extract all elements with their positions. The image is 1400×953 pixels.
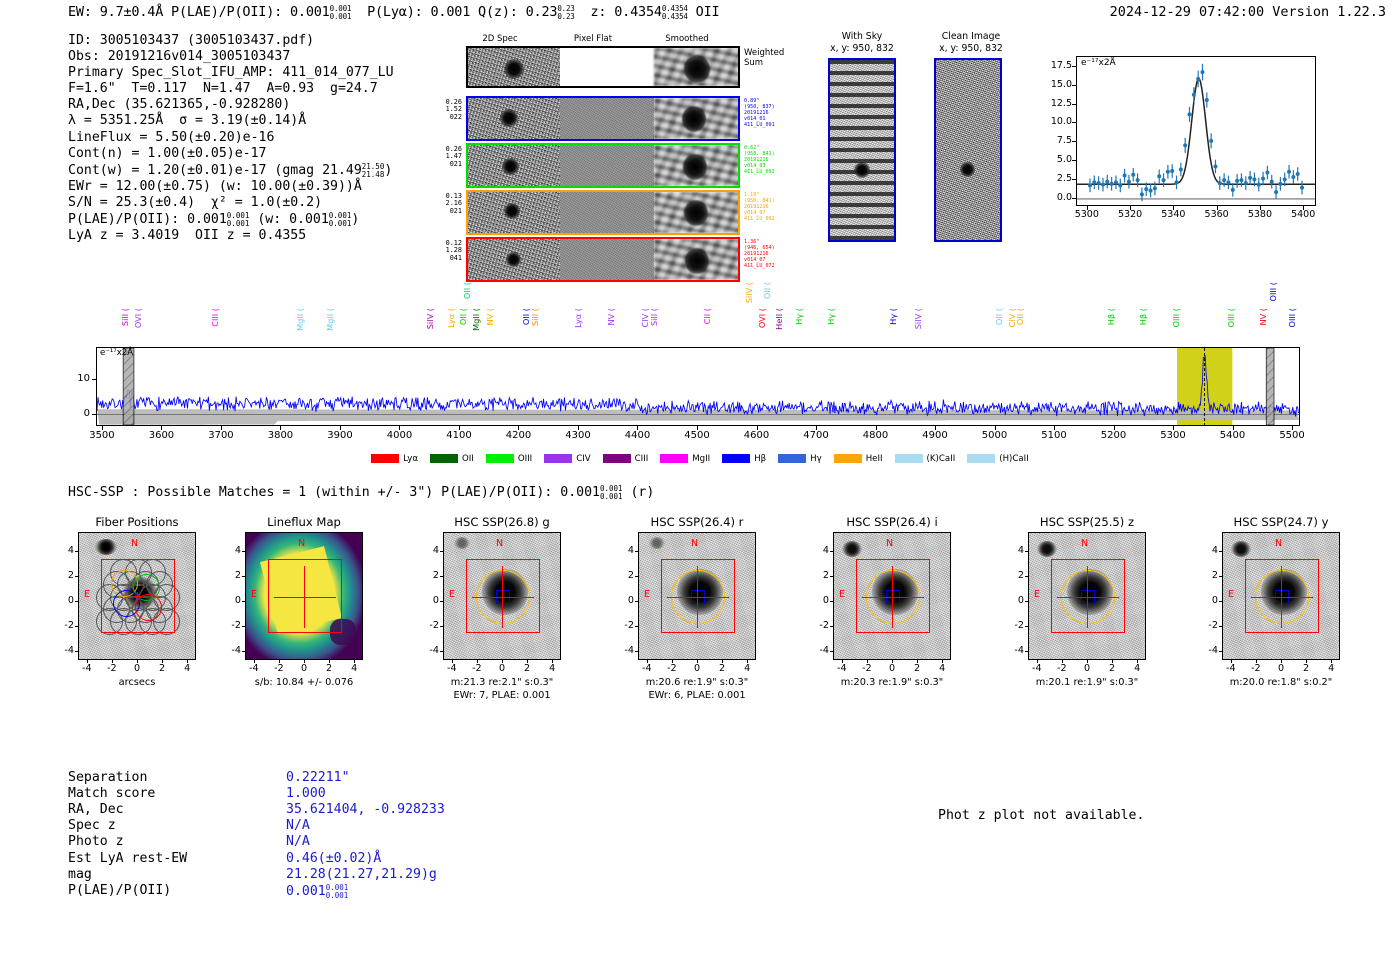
- spectrum-line-label: OIII (: [1171, 308, 1181, 328]
- spec2d-panel: 2D Spec Pixel Flat Smoothed Weighted Sum…: [438, 34, 788, 249]
- panel-xtick: 4: [171, 663, 203, 674]
- tick-mark: [637, 426, 638, 430]
- tick-mark: [892, 660, 893, 663]
- panel-ytick: 0: [1196, 595, 1218, 606]
- crosshair-vertical: [502, 566, 503, 628]
- panel-ytick: 2: [52, 570, 74, 581]
- tick-mark: [1072, 198, 1076, 199]
- line-profile-ytick: 7.5: [1034, 135, 1072, 146]
- line-profile-ytick: 10.0: [1034, 116, 1072, 127]
- tick-mark: [75, 601, 78, 602]
- tick-mark: [830, 576, 833, 577]
- tick-mark: [1219, 651, 1222, 652]
- spectrum-line-label: Hγ (: [826, 308, 836, 325]
- tick-mark: [1217, 206, 1218, 210]
- panel-ytick: 2: [807, 570, 829, 581]
- spectrum-xtick: 5000: [969, 430, 1021, 441]
- spec2d-col-title-smoothed: Smoothed: [642, 34, 732, 44]
- crosshair-vertical: [1281, 566, 1282, 628]
- legend-label: CIV: [576, 454, 590, 464]
- detail-value: 35.621404, -0.928233: [286, 802, 445, 818]
- tick-mark: [816, 426, 817, 430]
- legend-item: OIII: [486, 454, 532, 464]
- spectrum-line-label: OIII (: [1287, 308, 1297, 328]
- spectrum-line-label: HeII (: [774, 308, 784, 330]
- spectrum-line-label: SiIV (: [744, 282, 754, 303]
- spectrum-line-label: Lyα (: [573, 308, 583, 328]
- panel-image-hsc-cutout[interactable]: NE: [833, 532, 951, 660]
- panel-ytick: 0: [1002, 595, 1024, 606]
- spec2d-row-left-labels: 0.132.16021: [426, 193, 462, 215]
- spec2d-row-left-labels: 0.261.47021: [426, 146, 462, 168]
- tick-mark: [221, 426, 222, 430]
- line-profile-xtick: 5380: [1238, 209, 1282, 220]
- panel-image-fiber-positions[interactable]: NE: [78, 532, 196, 660]
- legend-label: MgII: [692, 454, 710, 464]
- legend-item: Lyα: [371, 454, 418, 464]
- hsc-plae-bounds: 0.0010.001: [600, 485, 623, 501]
- spec2d-row-right-labels: 1.36"(946, 654)20191216v014_07411_LU_072: [744, 239, 792, 269]
- panel-ytick: 4: [1002, 545, 1024, 556]
- panel-ytick: 0: [219, 595, 241, 606]
- legend-label: HeII: [866, 454, 883, 464]
- tick-mark: [102, 426, 103, 430]
- tick-mark: [635, 651, 638, 652]
- tick-mark: [1219, 576, 1222, 577]
- tick-mark: [1072, 122, 1076, 123]
- east-marker: E: [1228, 589, 1234, 600]
- panel-ytick: -4: [52, 645, 74, 656]
- detail-key: Spec z: [68, 818, 116, 834]
- spec2d-row-right-labels: 0.89"(950, 837)20191216v014_01411_LU_091: [744, 98, 792, 128]
- info-cont-n: Cont(n) = 1.00(±0.05)e-17: [68, 146, 394, 162]
- tick-mark: [876, 426, 877, 430]
- spec2d-weighted-sum-label: Weighted Sum: [744, 48, 794, 68]
- spectrum-line-label: OII (: [1015, 308, 1025, 325]
- spectrum-xtick: 4500: [671, 430, 723, 441]
- header-summary-prefix: EW: 9.7±0.4Å P(LAE)/P(OII): 0.001: [68, 4, 330, 20]
- panel-ytick: -4: [807, 645, 829, 656]
- legend-label: Hγ: [810, 454, 822, 464]
- panel-caption-secondary: EWr: 6, PLAE: 0.001: [598, 690, 796, 702]
- clean-image: [934, 58, 1002, 242]
- spectrum-line-label: OII (: [462, 282, 472, 299]
- panel-title: HSC SSP(26.8) g: [403, 515, 601, 529]
- panel-image-lineflux-map[interactable]: NE: [245, 532, 363, 660]
- tick-mark: [162, 660, 163, 663]
- header-z-suffix: OII: [696, 4, 720, 20]
- north-marker: N: [496, 538, 503, 549]
- z-bounds: 0.43540.4354: [662, 5, 688, 21]
- legend-item: CIV: [544, 454, 590, 464]
- tick-mark: [1303, 206, 1304, 210]
- panel-caption-primary: m:20.6 re:1.9" s:0.3": [598, 677, 796, 689]
- legend-label: Lyα: [403, 454, 418, 464]
- spectrum-line-label: OVI (: [757, 308, 767, 328]
- spectrum-line-label: Hβ (: [1138, 308, 1148, 325]
- tick-mark: [747, 660, 748, 663]
- tick-mark: [280, 426, 281, 430]
- spectrum-line-label: SiII (: [120, 308, 130, 326]
- legend-label: (K)CaII: [927, 454, 956, 464]
- tick-mark: [242, 626, 245, 627]
- tick-mark: [1292, 426, 1293, 430]
- spectrum-line-label: MgII (: [295, 308, 305, 331]
- detail-key: Match score: [68, 786, 155, 802]
- tick-mark: [722, 660, 723, 663]
- spec2d-row-right-labels: 0.62"(950, 841)20191216v014_03411_LU_092: [744, 145, 792, 175]
- spectrum-line-label: OVI (: [133, 308, 143, 328]
- qz-bounds: 0.230.23: [557, 5, 574, 21]
- panel-xtick: 4: [1121, 663, 1153, 674]
- info-plae: P(LAE)/P(OII): 0.0010.0010.001 (w: 0.001…: [68, 211, 394, 228]
- panel-ytick: 2: [219, 570, 241, 581]
- east-marker: E: [251, 589, 257, 600]
- tick-mark: [1130, 206, 1131, 210]
- panel-caption-primary: s/b: 10.84 +/- 0.076: [205, 677, 403, 689]
- spectrum-xtick: 4400: [611, 430, 663, 441]
- spec2d-row-right-labels: 1.19"(950, 841)20191216v014_07411_LU_092: [744, 192, 792, 222]
- detail-value: 1.000: [286, 786, 326, 802]
- info-plae-w-bounds: 0.0010.001: [329, 212, 352, 228]
- tick-mark: [552, 660, 553, 663]
- tick-mark: [1072, 104, 1076, 105]
- panel-caption-primary: m:20.1 re:1.9" s:0.3": [988, 677, 1186, 689]
- tick-mark: [1025, 651, 1028, 652]
- panel-ytick: 2: [612, 570, 634, 581]
- legend-swatch: [660, 454, 688, 463]
- hsc-ssp-summary: HSC-SSP : Possible Matches = 1 (within +…: [68, 484, 654, 500]
- detail-key: Est LyA rest-EW: [68, 851, 187, 867]
- spectrum-xtick: 4600: [731, 430, 783, 441]
- legend-item: HeII: [834, 454, 883, 464]
- panel-title: HSC SSP(25.5) z: [988, 515, 1186, 529]
- legend-swatch: [722, 454, 750, 463]
- north-marker: N: [1275, 538, 1282, 549]
- detail-value: 21.28(21.27,21.29)g: [286, 867, 437, 883]
- info-primary-spec: Primary Spec_Slot_IFU_AMP: 411_014_077_L…: [68, 65, 394, 81]
- legend-swatch: [603, 454, 631, 463]
- tick-mark: [75, 576, 78, 577]
- line-profile-data: [1077, 57, 1315, 205]
- timestamp-version: 2024-12-29 07:42:00 Version 1.22.3: [1110, 4, 1386, 20]
- line-profile-ytick: 0.0: [1034, 192, 1072, 203]
- info-lambda-sigma: λ = 5351.25Å σ = 3.19(±0.14)Å: [68, 113, 394, 129]
- tick-mark: [1331, 660, 1332, 663]
- detail-value: 0.22211": [286, 770, 350, 786]
- tick-mark: [75, 551, 78, 552]
- spectrum-xtick: 4700: [790, 430, 842, 441]
- tick-mark: [340, 426, 341, 430]
- panel-ytick: 2: [1196, 570, 1218, 581]
- panel-ytick: -2: [417, 620, 439, 631]
- north-marker: N: [691, 538, 698, 549]
- panel-ytick: 2: [1002, 570, 1024, 581]
- tick-mark: [830, 601, 833, 602]
- tick-mark: [672, 660, 673, 663]
- panel-ytick: -2: [52, 620, 74, 631]
- panel-title: HSC SSP(26.4) r: [598, 515, 796, 529]
- spectrum-line-label: SiII (: [530, 308, 540, 326]
- tick-mark: [242, 651, 245, 652]
- header-z: z: 0.4354: [590, 4, 661, 20]
- spectrum-xtick: 5200: [1088, 430, 1140, 441]
- legend-item: (H)CaII: [967, 454, 1029, 464]
- tick-mark: [1072, 141, 1076, 142]
- tick-mark: [112, 660, 113, 663]
- tick-mark: [75, 651, 78, 652]
- detail-key: Photo z: [68, 834, 124, 850]
- spectrum-xtick: 4800: [850, 430, 902, 441]
- panel-ytick: 0: [807, 595, 829, 606]
- detail-key: Separation: [68, 770, 147, 786]
- tick-mark: [242, 576, 245, 577]
- legend-item: OII: [430, 454, 474, 464]
- spec2d-col-title-2dspec: 2D Spec: [460, 34, 540, 44]
- tick-mark: [942, 660, 943, 663]
- north-marker: N: [131, 538, 138, 549]
- tick-mark: [1219, 626, 1222, 627]
- legend-label: OIII: [518, 454, 532, 464]
- panel-ytick: 0: [52, 595, 74, 606]
- spec2d-col-title-pixelflat: Pixel Flat: [548, 34, 638, 44]
- tick-mark: [917, 660, 918, 663]
- info-lineflux: LineFlux = 5.50(±0.20)e-16: [68, 130, 394, 146]
- legend-swatch: [371, 454, 399, 463]
- spectrum-line-label: Hβ (: [1106, 308, 1116, 325]
- tick-mark: [935, 426, 936, 430]
- panel-image-hsc-cutout[interactable]: NE: [443, 532, 561, 660]
- legend-swatch: [895, 454, 923, 463]
- detail-key: mag: [68, 867, 92, 883]
- east-marker: E: [839, 589, 845, 600]
- line-profile-xtick: 5300: [1065, 209, 1109, 220]
- detail-value: N/A: [286, 818, 310, 834]
- detail-key: P(LAE)/P(OII): [68, 883, 171, 899]
- tick-mark: [842, 660, 843, 663]
- crosshair-vertical: [304, 566, 305, 628]
- north-marker: N: [1081, 538, 1088, 549]
- line-profile-xtick: 5360: [1195, 209, 1239, 220]
- line-profile-plot: e⁻¹⁷x2Å 0.02.55.07.510.012.515.017.5 530…: [1034, 48, 1324, 238]
- spectrum-line-label: SiIV (: [913, 308, 923, 329]
- spec2d-exposure-stamp: [466, 237, 740, 282]
- spectrum-xtick: 3500: [76, 430, 128, 441]
- info-ewr: EWr = 12.00(±0.75) (w: 10.00(±0.39))Å: [68, 179, 394, 195]
- line-profile-ytick: 15.0: [1034, 79, 1072, 90]
- panel-ytick: -4: [219, 645, 241, 656]
- tick-mark: [830, 651, 833, 652]
- panel-ytick: -4: [417, 645, 439, 656]
- panel-xtick: 4: [926, 663, 958, 674]
- tick-mark: [440, 576, 443, 577]
- tick-mark: [477, 660, 478, 663]
- spec2d-row-left-labels: 0.261.52022: [426, 99, 462, 121]
- tick-mark: [452, 660, 453, 663]
- spectrum-xtick: 5300: [1147, 430, 1199, 441]
- tick-mark: [1072, 179, 1076, 180]
- tick-mark: [697, 426, 698, 430]
- spectrum-xtick: 3700: [195, 430, 247, 441]
- spectrum-plot: e⁻¹⁷x2Å: [96, 347, 1300, 426]
- tick-mark: [635, 626, 638, 627]
- spectrum-ytick: 0: [58, 408, 90, 419]
- panel-caption-primary: m:20.0 re:1.8" s:0.2": [1182, 677, 1380, 689]
- spectrum-line-label: SiIV (: [425, 308, 435, 329]
- legend-swatch: [544, 454, 572, 463]
- panel-ytick: -4: [612, 645, 634, 656]
- tick-mark: [329, 660, 330, 663]
- east-marker: E: [84, 589, 90, 600]
- panel-ytick: -2: [1196, 620, 1218, 631]
- info-cont-w: Cont(w) = 1.20(±0.01)e-17 (gmag 21.4921.…: [68, 162, 394, 179]
- tick-mark: [635, 576, 638, 577]
- spectrum-line-label: SiII (: [649, 308, 659, 326]
- object-info-block: ID: 3005103437 (3005103437.pdf) Obs: 201…: [68, 33, 394, 244]
- spectrum-xtick: 5100: [1028, 430, 1080, 441]
- spectrum-line-label: OII (: [994, 308, 1004, 325]
- tick-mark: [697, 660, 698, 663]
- tick-mark: [1256, 660, 1257, 663]
- tick-mark: [92, 414, 96, 415]
- spectrum-line-label: NV (: [485, 308, 495, 326]
- tick-mark: [1025, 601, 1028, 602]
- legend-swatch: [834, 454, 862, 463]
- panel-title: HSC SSP(26.4) i: [793, 515, 991, 529]
- detail-value: 0.0010.0010.001: [286, 883, 348, 900]
- panel-ytick: 4: [219, 545, 241, 556]
- detail-plae-bounds: 0.0010.001: [326, 884, 349, 900]
- east-marker: E: [1034, 589, 1040, 600]
- panel-title: Lineflux Map: [205, 515, 403, 529]
- spectrum-xtick: 5400: [1207, 430, 1259, 441]
- tick-mark: [459, 426, 460, 430]
- spectrum-line-label: NV (: [606, 308, 616, 326]
- with-sky-image: [828, 58, 896, 242]
- tick-mark: [1173, 426, 1174, 430]
- spectrum-line-label: MgII (: [471, 308, 481, 331]
- legend-swatch: [430, 454, 458, 463]
- plae-ratio-bounds: 0.0010.001: [330, 5, 352, 21]
- tick-mark: [1025, 576, 1028, 577]
- tick-mark: [1072, 66, 1076, 67]
- gmag-bounds: 21.5021.48: [362, 163, 385, 179]
- legend-label: Hβ: [754, 454, 766, 464]
- east-marker: E: [449, 589, 455, 600]
- tick-mark: [1087, 206, 1088, 210]
- panel-ytick: -2: [612, 620, 634, 631]
- panel-image-hsc-cutout[interactable]: NE: [638, 532, 756, 660]
- tick-mark: [578, 426, 579, 430]
- panel-ytick: 4: [417, 545, 439, 556]
- spectrum-line-label: Lyα (: [446, 308, 456, 328]
- spectrum-flux-units: e⁻¹⁷x2Å: [100, 348, 133, 358]
- clean-image-coords: x, y: 950, 832: [916, 43, 1026, 54]
- header-summary: EW: 9.7±0.4Å P(LAE)/P(OII): 0.0010.0010.…: [68, 4, 719, 20]
- tick-mark: [1072, 160, 1076, 161]
- tick-mark: [87, 660, 88, 663]
- info-params: F=1.6" T=0.117 N=1.47 A=0.93 g=24.7: [68, 81, 394, 97]
- tick-mark: [1137, 660, 1138, 663]
- north-marker: N: [298, 538, 305, 549]
- spectrum-xtick: 5500: [1266, 430, 1318, 441]
- info-obs: Obs: 20191216v014_3005103437: [68, 49, 394, 65]
- line-profile-xtick: 5320: [1108, 209, 1152, 220]
- tick-mark: [518, 426, 519, 430]
- detail-key: RA, Dec: [68, 802, 124, 818]
- tick-mark: [1025, 626, 1028, 627]
- detail-value: N/A: [286, 834, 310, 850]
- tick-mark: [1306, 660, 1307, 663]
- panel-caption-secondary: EWr: 7, PLAE: 0.001: [403, 690, 601, 702]
- spec2d-exposure-stamp: [466, 143, 740, 188]
- legend-item: CIII: [603, 454, 649, 464]
- panel-xtick: 4: [731, 663, 763, 674]
- spectrum-legend: LyαOIIOIIICIVCIIIMgIIHβHγHeII(K)CaII(H)C…: [0, 454, 1400, 464]
- spec2d-row-left-labels: 0.121.28041: [426, 240, 462, 262]
- tick-mark: [647, 660, 648, 663]
- tick-mark: [1087, 660, 1088, 663]
- tick-mark: [92, 379, 96, 380]
- tick-mark: [242, 551, 245, 552]
- panel-ytick: -2: [219, 620, 241, 631]
- legend-swatch: [967, 454, 995, 463]
- panel-ytick: 4: [1196, 545, 1218, 556]
- line-profile-xtick: 5340: [1151, 209, 1195, 220]
- tick-mark: [1219, 601, 1222, 602]
- spectrum-line-labels: SiII (OVI (CIII (MgII (MgII (SiIV (Lyα (…: [96, 282, 1300, 348]
- tick-mark: [635, 601, 638, 602]
- crosshair-vertical: [1087, 566, 1088, 628]
- spectrum-line-label: OII (: [762, 282, 772, 299]
- panel-image-hsc-cutout[interactable]: NE: [1222, 532, 1340, 660]
- spectrum-xtick: 3600: [135, 430, 187, 441]
- tick-mark: [279, 660, 280, 663]
- tick-mark: [1114, 426, 1115, 430]
- info-redshifts: LyA z = 3.4019 OII z = 0.4355: [68, 228, 394, 244]
- line-profile-ytick: 17.5: [1034, 60, 1072, 71]
- with-sky-coords: x, y: 950, 832: [812, 43, 912, 54]
- tick-mark: [1112, 660, 1113, 663]
- with-sky-title: With Sky: [812, 31, 912, 42]
- legend-swatch: [778, 454, 806, 463]
- tick-mark: [1025, 551, 1028, 552]
- tick-mark: [1173, 206, 1174, 210]
- north-marker: N: [886, 538, 893, 549]
- legend-label: CIII: [635, 454, 649, 464]
- line-profile-ytick: 12.5: [1034, 98, 1072, 109]
- tick-mark: [137, 660, 138, 663]
- crosshair-vertical: [892, 566, 893, 628]
- spectrum-line-label: OIII (: [1226, 308, 1236, 328]
- spectrum-line-label: MgII (: [325, 308, 335, 331]
- panel-image-hsc-cutout[interactable]: NE: [1028, 532, 1146, 660]
- panel-ytick: -2: [807, 620, 829, 631]
- clean-image-title: Clean Image: [916, 31, 1026, 42]
- tick-mark: [830, 551, 833, 552]
- spectrum-line-label: OII (: [458, 308, 468, 325]
- east-marker: E: [644, 589, 650, 600]
- tick-mark: [867, 660, 868, 663]
- tick-mark: [254, 660, 255, 663]
- spectrum-xtick: 3900: [314, 430, 366, 441]
- panel-ytick: 2: [417, 570, 439, 581]
- panel-ytick: 0: [417, 595, 439, 606]
- tick-mark: [1072, 85, 1076, 86]
- tick-mark: [399, 426, 400, 430]
- tick-mark: [995, 426, 996, 430]
- legend-item: Hβ: [722, 454, 766, 464]
